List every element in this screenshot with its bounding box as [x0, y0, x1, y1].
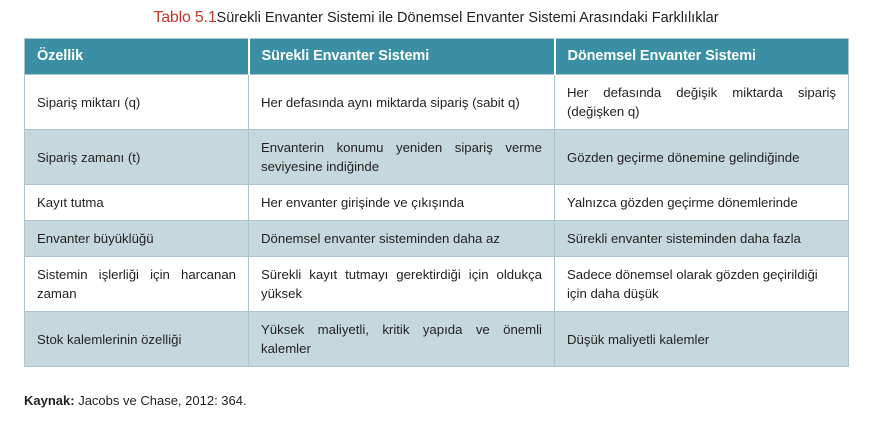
- cell-perpetual: Sürekli kayıt tutmayı gerektirdiği için …: [249, 257, 555, 312]
- table-header-row: Özellik Sürekli Envanter Sistemi Dönemse…: [25, 39, 849, 75]
- table-row: Sipariş miktarı (q) Her defasında aynı m…: [25, 75, 849, 130]
- table-row: Sistemin işlerliği için harcanan zaman S…: [25, 257, 849, 312]
- source-value: Jacobs ve Chase, 2012: 364.: [78, 393, 246, 408]
- table-caption-label: Tablo 5.1: [153, 9, 216, 26]
- table-row: Kayıt tutma Her envanter girişinde ve çı…: [25, 185, 849, 221]
- column-header-perpetual: Sürekli Envanter Sistemi: [249, 39, 555, 75]
- cell-feature: Sipariş miktarı (q): [25, 75, 249, 130]
- cell-perpetual: Her envanter girişinde ve çıkışında: [249, 185, 555, 221]
- table-row: Stok kalemlerinin özelliği Yüksek maliye…: [25, 312, 849, 367]
- cell-feature: Sipariş zamanı (t): [25, 130, 249, 185]
- table-source-note: Kaynak: Jacobs ve Chase, 2012: 364.: [24, 392, 247, 410]
- cell-feature: Sistemin işlerliği için harcanan zaman: [25, 257, 249, 312]
- cell-periodic: Yalnızca gözden geçirme dönemlerinde: [555, 185, 849, 221]
- table-figure-page: Tablo 5.1Sürekli Envanter Sistemi ile Dö…: [0, 0, 870, 428]
- cell-perpetual: Her defasında aynı miktarda sipariş (sab…: [249, 75, 555, 130]
- column-header-feature: Özellik: [25, 39, 249, 75]
- cell-feature: Kayıt tutma: [25, 185, 249, 221]
- source-label: Kaynak:: [24, 393, 75, 408]
- table-body: Sipariş miktarı (q) Her defasında aynı m…: [25, 75, 849, 367]
- cell-periodic: Düşük maliyetli kalemler: [555, 312, 849, 367]
- cell-feature: Envanter büyüklüğü: [25, 221, 249, 257]
- table-row: Envanter büyüklüğü Dönemsel envanter sis…: [25, 221, 849, 257]
- table-row: Sipariş zamanı (t) Envanterin konumu yen…: [25, 130, 849, 185]
- cell-periodic: Her defasında değişik miktarda sipariş (…: [555, 75, 849, 130]
- table-header: Özellik Sürekli Envanter Sistemi Dönemse…: [25, 39, 849, 75]
- comparison-table: Özellik Sürekli Envanter Sistemi Dönemse…: [24, 38, 849, 367]
- cell-periodic: Sadece dönemsel olarak gözden geçirildiğ…: [555, 257, 849, 312]
- cell-periodic: Sürekli envanter sisteminden daha fazla: [555, 221, 849, 257]
- cell-feature: Stok kalemlerinin özelliği: [25, 312, 249, 367]
- table-caption-text: Sürekli Envanter Sistemi ile Dönemsel En…: [217, 10, 719, 26]
- table-caption: Tablo 5.1Sürekli Envanter Sistemi ile Dö…: [24, 8, 848, 28]
- cell-periodic: Gözden geçirme dönemine gelindiğinde: [555, 130, 849, 185]
- comparison-table-container: Özellik Sürekli Envanter Sistemi Dönemse…: [24, 38, 848, 367]
- column-header-periodic: Dönemsel Envanter Sistemi: [555, 39, 849, 75]
- cell-perpetual: Yüksek maliyetli, kritik yapıda ve öneml…: [249, 312, 555, 367]
- cell-perpetual: Envanterin konumu yeniden sipariş verme …: [249, 130, 555, 185]
- cell-perpetual: Dönemsel envanter sisteminden daha az: [249, 221, 555, 257]
